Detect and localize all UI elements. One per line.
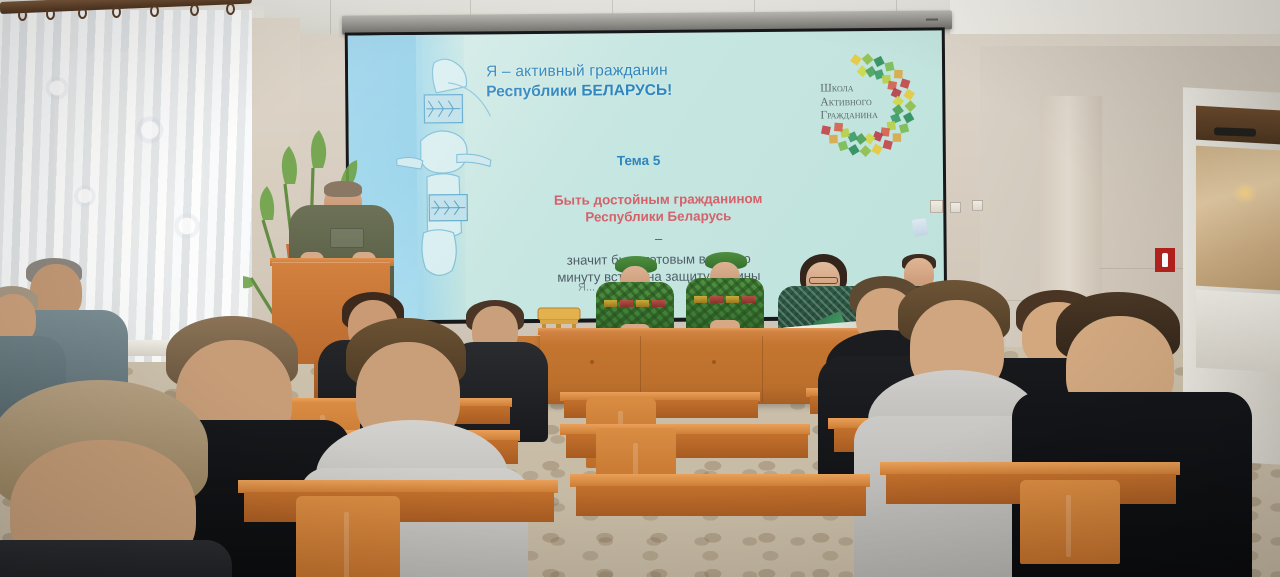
slide-heading-line1: Я – активный гражданин — [486, 60, 786, 82]
slide-footer-text: Я... — [578, 281, 595, 293]
slide-topic-label: Тема 5 — [617, 153, 661, 168]
logo-line-2: Активного — [820, 95, 906, 109]
officer-medals — [692, 296, 758, 304]
glasses-icon — [809, 277, 838, 284]
door-handle[interactable] — [1214, 127, 1256, 136]
door-transom — [1196, 106, 1280, 145]
presidium-officer-left — [596, 256, 674, 336]
logo-line-3: Гражданина — [820, 109, 906, 123]
officer-medals — [602, 300, 668, 308]
door-glass — [1196, 146, 1280, 291]
shag-logo: Школа Активного Гражданина — [808, 49, 921, 162]
wall-socket[interactable] — [930, 200, 943, 213]
slide-heading-line2: Республики БЕЛАРУСЬ! — [486, 79, 786, 101]
speaker-pocket — [330, 228, 364, 248]
classroom-photo-scene: Я – активный гражданин Республики БЕЛАРУ… — [0, 0, 1280, 577]
wall-device — [912, 218, 928, 237]
slide-body-red-1: Быть достойным гражданином — [517, 190, 799, 210]
fire-extinguisher-sign-icon — [1155, 248, 1175, 272]
slide-dash: – — [517, 230, 799, 249]
slide-heading: Я – активный гражданин Республики БЕЛАРУ… — [486, 60, 786, 102]
speaker-hair — [324, 181, 362, 197]
logo-text: Школа Активного Гражданина — [820, 82, 906, 123]
door-light-reflection — [1232, 182, 1258, 204]
wall-socket[interactable] — [950, 202, 961, 213]
chair-front-2[interactable] — [1020, 480, 1120, 564]
logo-line-1: Школа — [820, 82, 906, 96]
presidium-officer-right — [686, 252, 764, 332]
door-lower-panel — [1196, 290, 1280, 373]
chair-front-1[interactable] — [296, 496, 400, 577]
slide-body-red-2: Республики Беларусь — [517, 207, 799, 227]
wall-switch[interactable] — [972, 200, 983, 211]
